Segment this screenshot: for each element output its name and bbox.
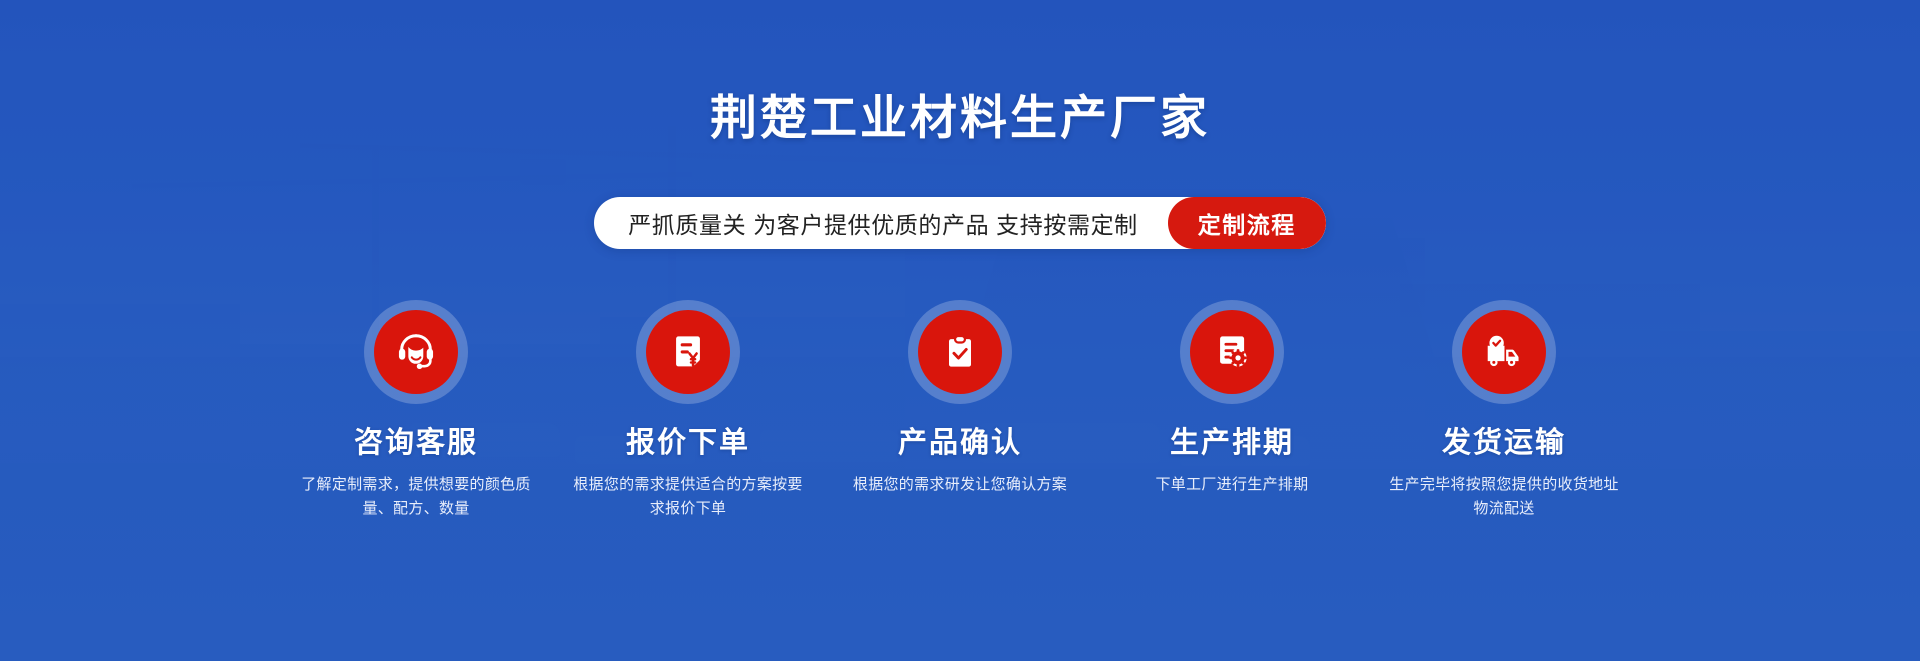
process-step-5[interactable]: 发货运输 生产完毕将按照您提供的收货地址物流配送 xyxy=(1368,300,1640,521)
subtitle-bar-wrapper: 严抓质量关 为客户提供优质的产品 支持按需定制 定制流程 xyxy=(0,197,1920,249)
icon-disc xyxy=(374,310,458,394)
custom-process-button[interactable]: 定制流程 xyxy=(1168,197,1326,249)
step-title: 产品确认 xyxy=(898,428,1022,460)
step-title: 报价下单 xyxy=(626,428,750,460)
process-step-3[interactable]: 产品确认 根据您的需求研发让您确认方案 xyxy=(824,300,1096,497)
step-description: 生产完毕将按照您提供的收货地址物流配送 xyxy=(1389,473,1619,521)
process-steps: 咨询客服 了解定制需求，提供想要的颜色质量、配方、数量 xyxy=(280,300,1640,521)
icon-ring xyxy=(908,300,1012,404)
process-step-4[interactable]: 生产排期 下单工厂进行生产排期 xyxy=(1096,300,1368,497)
step-description: 根据您的需求研发让您确认方案 xyxy=(853,473,1067,497)
step-description: 了解定制需求，提供想要的颜色质量、配方、数量 xyxy=(301,473,531,521)
icon-ring xyxy=(1180,300,1284,404)
subtitle-text: 严抓质量关 为客户提供优质的产品 支持按需定制 xyxy=(594,197,1168,249)
promo-banner: 荆楚工业材料生产厂家 严抓质量关 为客户提供优质的产品 支持按需定制 定制流程 xyxy=(0,0,1920,661)
icon-ring xyxy=(1452,300,1556,404)
page-title: 荆楚工业材料生产厂家 xyxy=(0,92,1920,144)
delivery-truck-check-icon xyxy=(1481,329,1527,375)
step-title: 发货运输 xyxy=(1442,428,1566,460)
icon-ring xyxy=(636,300,740,404)
invoice-yen-icon xyxy=(666,330,710,374)
icon-disc xyxy=(1462,310,1546,394)
icon-ring xyxy=(364,300,468,404)
clipboard-check-icon xyxy=(938,330,982,374)
icon-disc xyxy=(1190,310,1274,394)
icon-disc xyxy=(918,310,1002,394)
subtitle-bar: 严抓质量关 为客户提供优质的产品 支持按需定制 定制流程 xyxy=(594,197,1326,249)
step-title: 生产排期 xyxy=(1170,428,1294,460)
headset-support-icon xyxy=(393,329,439,375)
step-description: 根据您的需求提供适合的方案按要求报价下单 xyxy=(573,473,803,521)
process-step-1[interactable]: 咨询客服 了解定制需求，提供想要的颜色质量、配方、数量 xyxy=(280,300,552,521)
process-step-2[interactable]: 报价下单 根据您的需求提供适合的方案按要求报价下单 xyxy=(552,300,824,521)
step-title: 咨询客服 xyxy=(354,428,478,460)
banner-content: 荆楚工业材料生产厂家 严抓质量关 为客户提供优质的产品 支持按需定制 定制流程 xyxy=(0,0,1920,661)
icon-disc xyxy=(646,310,730,394)
step-description: 下单工厂进行生产排期 xyxy=(1155,473,1308,497)
document-gear-icon xyxy=(1210,330,1254,374)
